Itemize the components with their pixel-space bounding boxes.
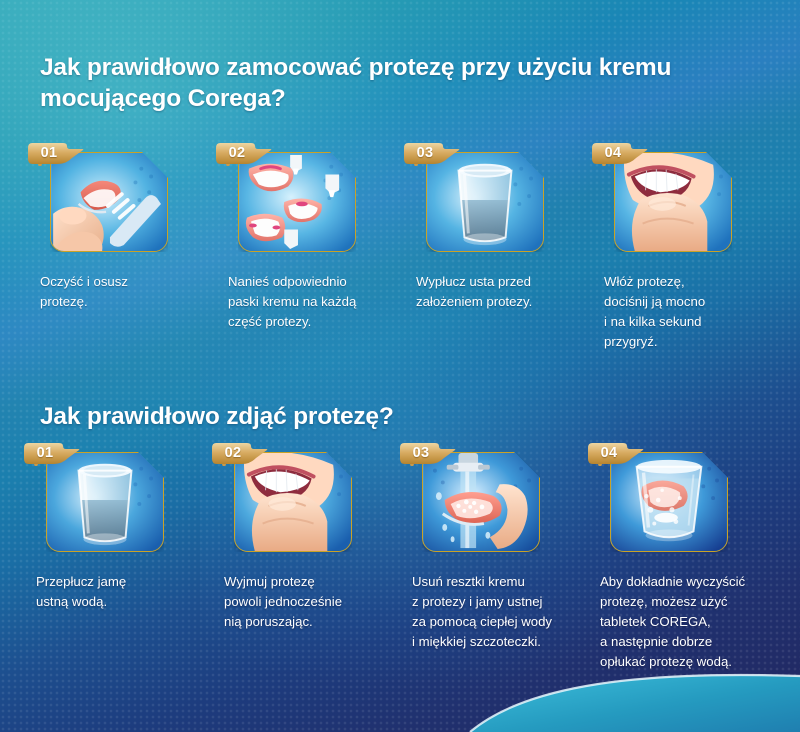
step-badge: 04 (592, 140, 648, 166)
step-card: 02 (224, 440, 406, 552)
step-media: 02 (224, 440, 352, 552)
step-media: 01 (36, 440, 164, 552)
step-thumbnail-wrap (238, 152, 356, 252)
mouth-remove-denture-icon (234, 452, 352, 552)
step-media: 01 (40, 140, 168, 252)
step-badge: 01 (28, 140, 84, 166)
step-card: 01 (36, 440, 218, 552)
step-number: 04 (592, 140, 634, 166)
step-thumbnail-wrap (426, 152, 544, 252)
denture-in-glass-tablet-icon (610, 452, 728, 552)
step-thumbnail-wrap (46, 452, 164, 552)
step-caption: Nanieś odpowiednio paski kremu na każdą … (228, 272, 406, 332)
step-number: 03 (400, 440, 442, 466)
step-badge: 03 (404, 140, 460, 166)
step-number: 02 (212, 440, 254, 466)
step-caption: Usuń resztki kremu z protezy i jamy ustn… (412, 572, 590, 652)
denture-cream-stripes-icon (238, 152, 356, 252)
step-caption: Przepłucz jamę ustną wodą. (36, 572, 214, 612)
step-thumbnail-wrap (610, 452, 728, 552)
step-card: 04 (604, 140, 786, 252)
water-glass-icon (426, 152, 544, 252)
step-media: 02 (228, 140, 356, 252)
step-badge: 04 (588, 440, 644, 466)
water-glass-icon (46, 452, 164, 552)
step-badge: 03 (400, 440, 456, 466)
denture-under-tap-icon (422, 452, 540, 552)
denture-toothbrush-icon (50, 152, 168, 252)
step-caption: Aby dokładnie wyczyścić protezę, możesz … (600, 572, 778, 672)
step-media: 04 (600, 440, 728, 552)
step-badge: 02 (212, 440, 268, 466)
section-title-mocowanie: Jak prawidłowo zamocować protezę przy uż… (40, 52, 760, 114)
section-title-zdejmowanie: Jak prawidłowo zdjąć protezę? (40, 401, 760, 432)
step-number: 01 (24, 440, 66, 466)
mouth-insert-denture-icon (614, 152, 732, 252)
step-media: 04 (604, 140, 732, 252)
step-thumbnail-wrap (422, 452, 540, 552)
step-thumbnail-wrap (234, 452, 352, 552)
step-thumbnail-wrap (614, 152, 732, 252)
step-card: 03 (416, 140, 598, 252)
step-number: 04 (588, 440, 630, 466)
step-thumbnail-wrap (50, 152, 168, 252)
step-caption: Włóż protezę, dociśnij ją mocno i na kil… (604, 272, 782, 352)
step-caption: Wypłucz usta przed założeniem protezy. (416, 272, 594, 312)
step-badge: 02 (216, 140, 272, 166)
step-number: 02 (216, 140, 258, 166)
step-media: 03 (412, 440, 540, 552)
step-number: 01 (28, 140, 70, 166)
infographic-page: Jak prawidłowo zamocować protezę przy uż… (0, 0, 800, 732)
step-caption: Wyjmuj protezę powoli jednocześnie nią p… (224, 572, 402, 632)
step-card: 03 (412, 440, 594, 552)
step-card: 02 (228, 140, 410, 252)
step-badge: 01 (24, 440, 80, 466)
step-number: 03 (404, 140, 446, 166)
step-media: 03 (416, 140, 544, 252)
step-card: 01 (40, 140, 222, 252)
step-card: 04 (600, 440, 782, 552)
step-caption: Oczyść i osusz protezę. (40, 272, 218, 312)
